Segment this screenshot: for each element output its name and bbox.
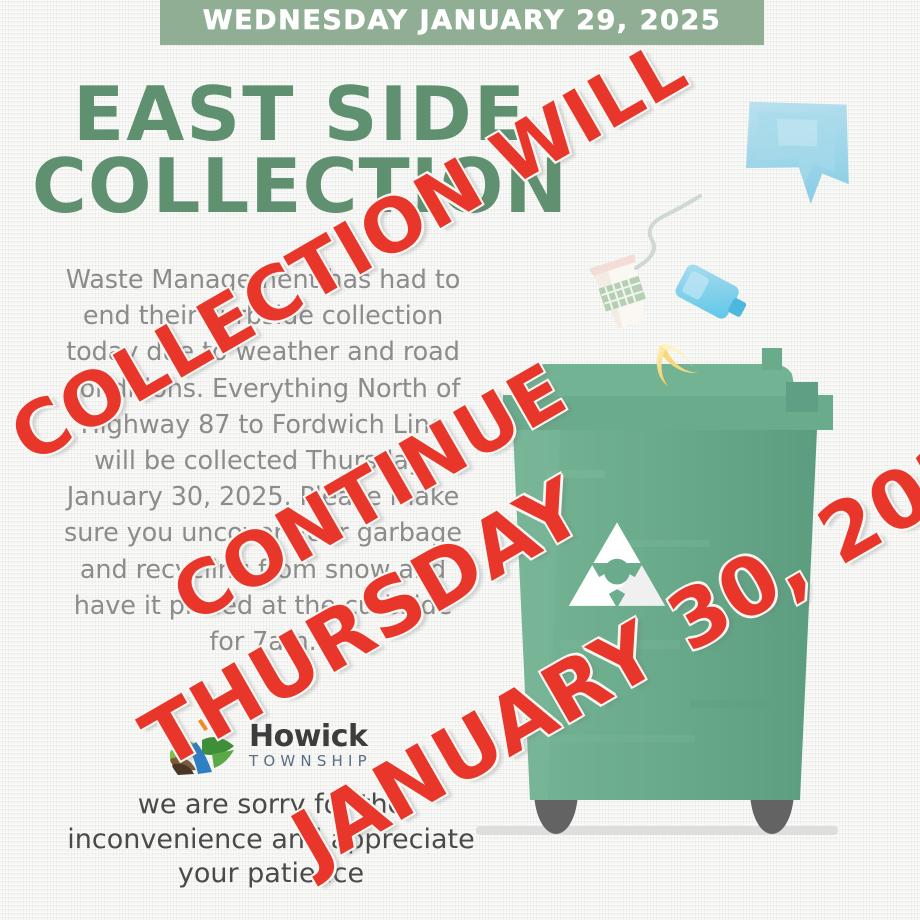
paper-cup-icon xyxy=(589,254,655,332)
blue-bottle-icon xyxy=(673,262,752,327)
litter-squiggle xyxy=(636,196,700,268)
ground-shadow-line xyxy=(476,826,838,835)
poster-canvas: WEDNESDAY JANUARY 29, 2025 EAST SIDE COL… xyxy=(0,0,920,920)
date-banner: WEDNESDAY JANUARY 29, 2025 xyxy=(160,0,764,45)
apology-line: inconvenience and appreciate xyxy=(40,823,502,858)
blue-plastic-bag-icon xyxy=(734,88,862,210)
apology-line: your patience xyxy=(40,857,502,892)
